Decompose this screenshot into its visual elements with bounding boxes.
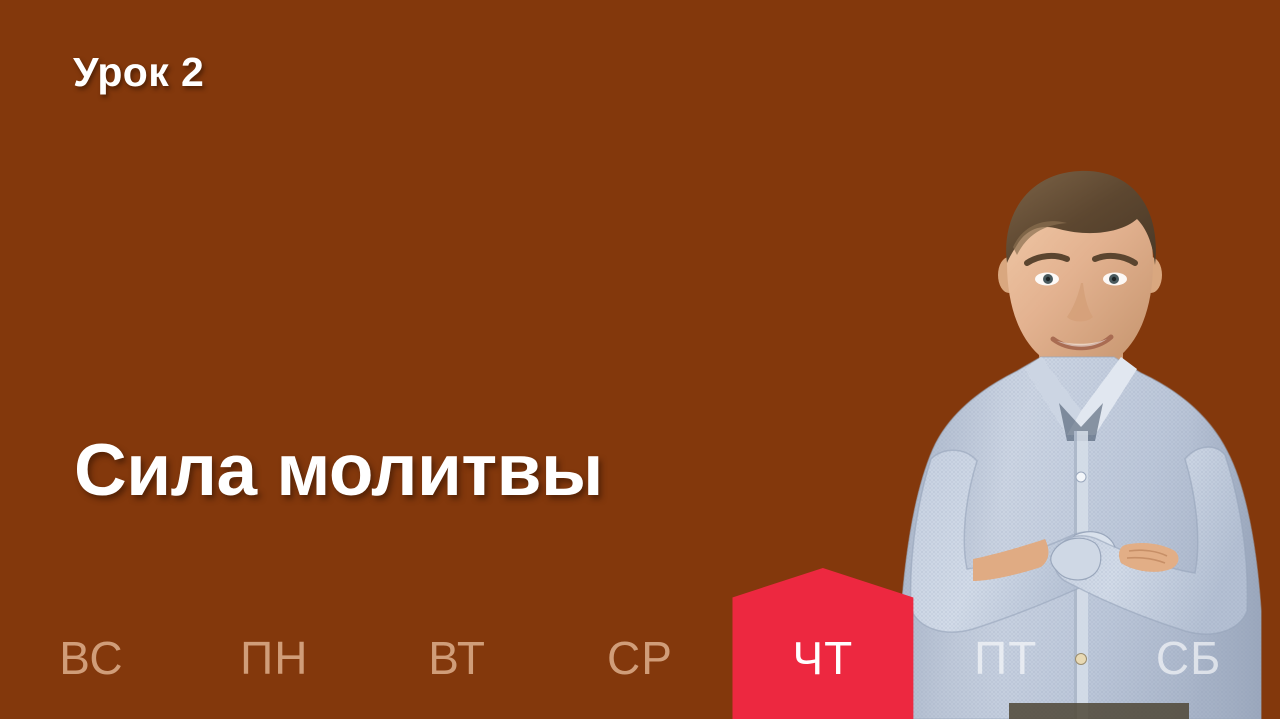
weekday-label: СБ [1156,635,1221,685]
weekday-item-vt[interactable]: ВТ [366,600,549,719]
weekday-label: СР [607,635,673,685]
weekday-item-cht[interactable]: ЧТ [731,600,914,719]
weekday-label: ВТ [428,635,486,685]
weekday-item-sr[interactable]: СР [549,600,732,719]
weekday-item-pt[interactable]: ПТ [914,600,1097,719]
weekday-label: ПН [240,635,308,685]
weekday-strip: ВС ПН ВТ СР ЧТ ПТ СБ [0,600,1280,719]
page-title: Сила молитвы [74,434,603,507]
weekday-label: ЧТ [792,635,853,685]
weekday-item-vs[interactable]: ВС [0,600,183,719]
weekday-label: ПТ [974,635,1037,685]
slide-canvas: Урок 2 Сила молитвы [0,0,1280,719]
weekday-label: ВС [59,635,123,685]
lesson-label: Урок 2 [73,52,204,93]
weekday-item-sb[interactable]: СБ [1097,600,1280,719]
weekday-item-pn[interactable]: ПН [183,600,366,719]
